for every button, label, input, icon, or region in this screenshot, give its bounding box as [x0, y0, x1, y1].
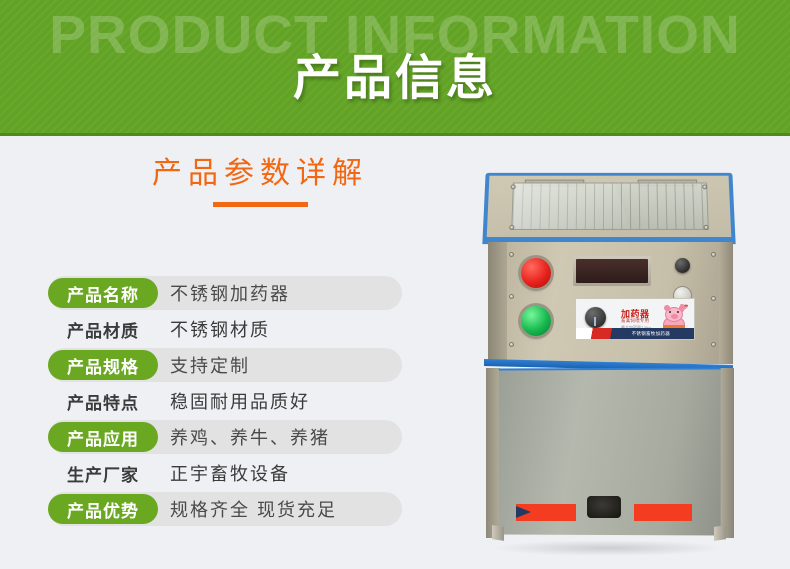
subtitle-text: 产品参数详解 — [0, 155, 520, 193]
head-right-edge — [719, 242, 733, 364]
page-title: 产品信息 — [0, 50, 790, 108]
pig-snout — [671, 314, 678, 319]
header-banner: PRODUCT INFORMATION 产品信息 — [0, 0, 790, 136]
screw-icon — [509, 252, 514, 257]
spec-label: 产品特点 — [48, 386, 158, 416]
head-left-edge — [489, 242, 507, 364]
photo-shadow — [490, 540, 725, 556]
product-photo: 调速开关 加药器 畜禽饲喂专用 最大加药量7.5kg 正宇 不锈钢畜牧加药器 — [470, 172, 745, 562]
screw-icon — [711, 252, 716, 257]
spec-row: 产品应用 养鸡、养牛、养猪 — [48, 420, 402, 454]
control-sticker-panel: 调速开关 加药器 畜禽饲喂专用 最大加药量7.5kg 正宇 不锈钢畜牧加药器 — [575, 298, 695, 340]
hopper-inner-panel — [487, 176, 732, 237]
emergency-stop-button[interactable] — [521, 258, 551, 288]
spec-label: 产品应用 — [48, 422, 158, 452]
power-indicator-button[interactable] — [521, 306, 551, 336]
spec-row: 生产厂家 正宇畜牧设备 — [48, 456, 402, 490]
spec-row: 产品优势 规格齐全 现货充足 — [48, 492, 402, 526]
spec-row: 产品名称 不锈钢加药器 — [48, 276, 402, 310]
screw-icon — [711, 296, 716, 301]
selector-knob-icon[interactable] — [675, 258, 690, 273]
blue-arrow-icon — [516, 506, 531, 518]
screw-icon — [702, 184, 707, 189]
screw-icon — [711, 342, 716, 347]
connector-port-icon — [587, 496, 621, 518]
spec-label: 产品材质 — [48, 314, 158, 344]
spec-value: 养鸡、养牛、养猪 — [170, 424, 330, 450]
hopper-glass-window — [511, 182, 709, 229]
speed-knob-icon[interactable] — [585, 307, 606, 328]
spec-label: 产品规格 — [48, 350, 158, 380]
pig-eye-right — [677, 311, 679, 313]
pig-eye-left — [669, 311, 671, 313]
red-sticker-right — [634, 504, 692, 521]
product-info-page: PRODUCT INFORMATION 产品信息 产品参数详解 产品名称 不锈钢… — [0, 0, 790, 569]
hopper-frame — [482, 173, 735, 244]
lcd-bezel — [573, 256, 651, 286]
lcd-display — [576, 259, 648, 283]
control-head-panel: 调速开关 加药器 畜禽饲喂专用 最大加药量7.5kg 正宇 不锈钢畜牧加药器 — [488, 242, 733, 364]
spec-label: 生产厂家 — [48, 458, 158, 488]
spec-list: 产品名称 不锈钢加药器 产品材质 不锈钢材质 产品规格 支持定制 产品特点 稳固… — [48, 276, 402, 528]
spec-row: 产品特点 稳固耐用品质好 — [48, 384, 402, 418]
spec-value: 不锈钢加药器 — [170, 280, 290, 306]
spec-value: 稳固耐用品质好 — [170, 388, 310, 414]
subtitle-underline — [213, 202, 308, 207]
spec-label: 产品名称 — [48, 278, 158, 308]
subtitle-block: 产品参数详解 — [0, 155, 520, 207]
cabinet-foot-right — [714, 525, 726, 541]
spec-label: 产品优势 — [48, 494, 158, 524]
spec-value: 不锈钢材质 — [170, 316, 270, 342]
spec-row: 产品材质 不锈钢材质 — [48, 312, 402, 346]
cabinet-foot-left — [492, 525, 504, 541]
spec-value: 正宇畜牧设备 — [170, 460, 290, 486]
sticker-band-text: 不锈钢畜牧加药器 — [632, 331, 670, 337]
spec-value: 规格齐全 现货充足 — [170, 496, 337, 522]
screw-icon — [509, 342, 514, 347]
lower-cabinet — [486, 368, 734, 540]
screw-icon — [509, 294, 514, 299]
spec-value: 支持定制 — [170, 352, 250, 378]
spec-row: 产品规格 支持定制 — [48, 348, 402, 382]
screw-icon — [704, 225, 709, 230]
sticker-subtitle: 畜禽饲喂专用 — [621, 318, 649, 324]
